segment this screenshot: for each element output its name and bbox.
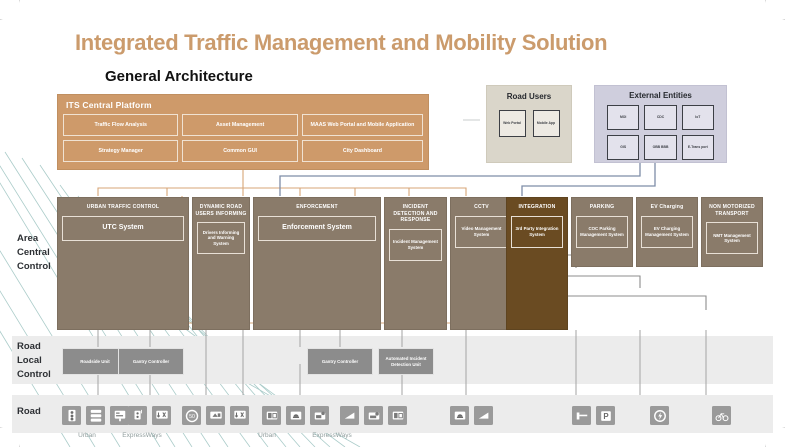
column-integration[interactable]: INTEGRATION 3rd Party Integration System xyxy=(506,197,568,330)
column-header-urban-traffic-control: URBAN TRAFFIC CONTROL xyxy=(58,198,188,215)
anpr-camera-icon[interactable] xyxy=(310,406,329,425)
vms-gantry-icon[interactable] xyxy=(206,406,225,425)
parking-barrier-icon[interactable] xyxy=(572,406,591,425)
column-header-ev-charging: EV Charging xyxy=(637,198,697,215)
local-box-automated-incident-detection-unit[interactable]: Automated Incident Detection Unit xyxy=(378,348,434,375)
bicycle-icon[interactable] xyxy=(712,406,731,425)
road-caption-urban-2: Urban xyxy=(232,432,302,440)
external-entities-group: External Entities MOI CDC IoT GIS OBB BB… xyxy=(594,85,727,163)
svg-text:50: 50 xyxy=(189,414,195,420)
its-module-city-dashboard[interactable]: City Dashboard xyxy=(302,140,423,162)
system-drivers-informing[interactable]: Drivers Informing and Warning System xyxy=(197,222,245,254)
local-box-gantry-controller-1[interactable]: Gantry Controller xyxy=(118,348,184,375)
its-platform-header: ITS Central Platform xyxy=(58,95,428,114)
traffic-light-stack-icon[interactable] xyxy=(86,406,105,425)
its-module-maas-portal[interactable]: MAAS Web Portal and Mobile Application xyxy=(302,114,423,136)
enforcement-camera-icon[interactable] xyxy=(262,406,281,425)
lane-control-sign-icon[interactable] xyxy=(152,406,171,425)
traffic-signal-icon[interactable] xyxy=(62,406,81,425)
its-module-common-gui[interactable]: Common GUI xyxy=(182,140,297,162)
column-dynamic-road-users-informing[interactable]: DYNAMIC ROAD USERS INFORMING Drivers Inf… xyxy=(192,197,250,330)
its-module-strategy-manager[interactable]: Strategy Manager xyxy=(63,140,178,162)
external-entity-obb[interactable]: OBB BBB xyxy=(644,135,676,160)
external-entity-gis[interactable]: GIS xyxy=(607,135,639,160)
external-entity-cdc[interactable]: CDC xyxy=(644,105,676,130)
system-coc-parking-management[interactable]: COC Parking Management System xyxy=(576,216,628,248)
its-module-traffic-flow-analysis[interactable]: Traffic Flow Analysis xyxy=(63,114,178,136)
column-header-non-motorized-transport: NON MOTORIZED TRANSPORT xyxy=(702,198,762,221)
column-header-parking: PARKING xyxy=(572,198,632,215)
system-utc[interactable]: UTC System xyxy=(62,216,184,241)
column-urban-traffic-control[interactable]: URBAN TRAFFIC CONTROL UTC System xyxy=(57,197,189,330)
its-central-platform[interactable]: ITS Central Platform Traffic Flow Analys… xyxy=(57,94,429,170)
speed-limit-sign-icon[interactable]: 50 xyxy=(182,406,201,425)
column-non-motorized-transport[interactable]: NON MOTORIZED TRANSPORT NMT Management S… xyxy=(701,197,763,267)
svg-text:P: P xyxy=(603,412,608,421)
corner-decoration-tr xyxy=(765,0,785,20)
road-users-group: Road Users Web Portal Mobile App xyxy=(486,85,572,163)
column-parking[interactable]: PARKING COC Parking Management System xyxy=(571,197,633,267)
road-caption-expressways-1: ExpressWays xyxy=(107,432,177,440)
parking-sign-icon[interactable]: P xyxy=(596,406,615,425)
external-entity-iot[interactable]: IoT xyxy=(682,105,714,130)
column-header-incident-detection: INCIDENT DETECTION AND RESPONSE xyxy=(385,198,446,228)
system-incident-management[interactable]: Incident Management System xyxy=(389,229,442,261)
column-ev-charging[interactable]: EV Charging EV Charging Management Syste… xyxy=(636,197,698,267)
column-header-enforcement: ENFORCEMENT xyxy=(254,198,380,215)
dome-camera-icon[interactable] xyxy=(286,406,305,425)
system-video-management[interactable]: Video Management System xyxy=(455,216,508,248)
system-third-party-integration[interactable]: 3rd Party Integration System xyxy=(511,216,563,248)
cctv-bullet-icon[interactable] xyxy=(474,406,493,425)
road-users-item-mobile-app[interactable]: Mobile App xyxy=(533,110,560,137)
column-cctv[interactable]: CCTV Video Management System xyxy=(450,197,513,330)
page-subtitle: General Architecture xyxy=(105,68,253,85)
system-nmt-management[interactable]: NMT Management System xyxy=(706,222,758,254)
column-header-integration: INTEGRATION xyxy=(507,198,567,215)
band-label-road-local-control: Road Local Control xyxy=(17,340,59,381)
its-module-asset-management[interactable]: Asset Management xyxy=(182,114,297,136)
ev-charger-icon[interactable] xyxy=(650,406,669,425)
local-box-gantry-controller-2[interactable]: Gantry Controller xyxy=(307,348,373,375)
road-users-item-web-portal[interactable]: Web Portal xyxy=(499,110,526,137)
column-header-dynamic-road-users-informing: DYNAMIC ROAD USERS INFORMING xyxy=(193,198,249,221)
architecture-slide: Integrated Traffic Management and Mobili… xyxy=(0,0,785,447)
band-label-area-central-control: Area Central Control xyxy=(17,232,59,273)
page-title: Integrated Traffic Management and Mobili… xyxy=(75,30,607,56)
detector-sign-icon[interactable] xyxy=(388,406,407,425)
column-header-cctv: CCTV xyxy=(451,198,512,215)
incident-camera-icon[interactable] xyxy=(364,406,383,425)
column-enforcement[interactable]: ENFORCEMENT Enforcement System xyxy=(253,197,381,330)
external-entity-etransport[interactable]: E-Trans port xyxy=(682,135,714,160)
system-enforcement[interactable]: Enforcement System xyxy=(258,216,376,241)
road-users-title: Road Users xyxy=(487,86,571,101)
external-entity-moi[interactable]: MOI xyxy=(607,105,639,130)
lane-signal-icon[interactable] xyxy=(230,406,249,425)
road-caption-expressways-2: ExpressWays xyxy=(297,432,367,440)
cctv-dome-icon[interactable] xyxy=(450,406,469,425)
signal-pole-icon[interactable] xyxy=(128,406,147,425)
corner-decoration-tl xyxy=(0,0,20,20)
column-incident-detection-and-response[interactable]: INCIDENT DETECTION AND RESPONSE Incident… xyxy=(384,197,447,330)
vms-sign-icon[interactable] xyxy=(110,406,129,425)
band-label-road: Road xyxy=(17,405,59,419)
system-ev-charging-management[interactable]: EV Charging Management System xyxy=(641,216,693,248)
external-entities-title: External Entities xyxy=(595,86,726,100)
radar-sensor-icon[interactable] xyxy=(340,406,359,425)
